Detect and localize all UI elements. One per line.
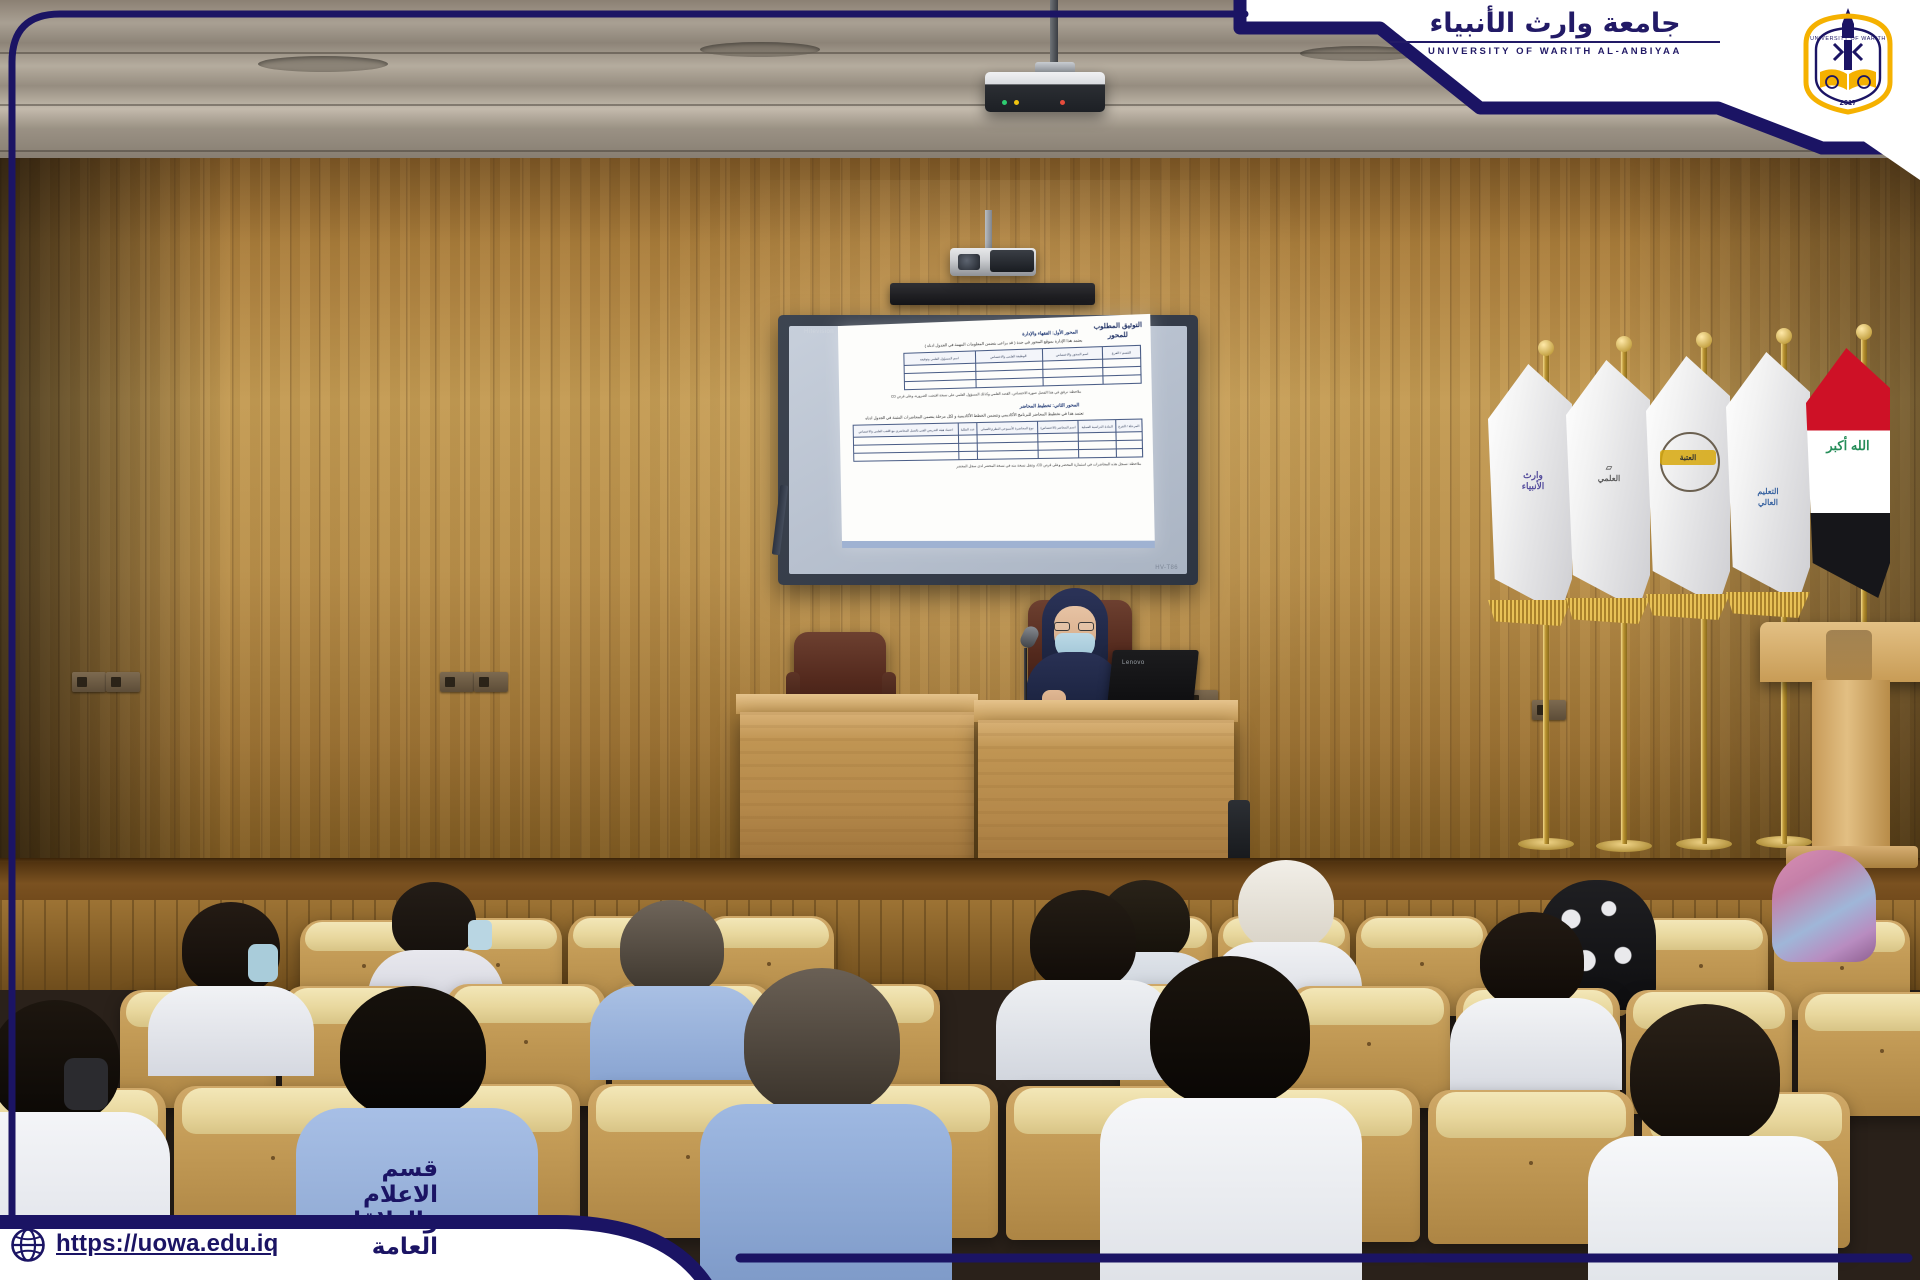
foreground-head-center-right [1150, 956, 1310, 1106]
university-name-arabic: جامعة وارث الأنبياء [1390, 8, 1720, 40]
emblem-year-text: 2017 [1840, 98, 1857, 107]
flag-finial [1776, 328, 1792, 344]
flag-ministry-emblem: ▱ﺍﻟﻌﻠﻤﻲ [1576, 462, 1642, 484]
foreground-shoulders-center [700, 1104, 952, 1280]
slide-t2-cell [1116, 449, 1142, 458]
face-mask [468, 920, 492, 950]
audience-shoulders [148, 986, 314, 1076]
slide-t1-cell [1043, 376, 1103, 386]
university-wordmark: جامعة وارث الأنبياء UNIVERSITY OF WARITH… [1390, 8, 1720, 70]
projector-body-dark [990, 250, 1034, 272]
ceiling-light [700, 42, 820, 57]
university-name-english: UNIVERSITY OF WARITH AL-ANBIYAA [1390, 41, 1720, 57]
audience-head-bald [620, 900, 724, 996]
slide-t2-cell [1038, 450, 1079, 459]
wall-outlet [440, 672, 474, 692]
wall-outlet [106, 672, 140, 692]
lecture-hall-photo: Hitevision HV-T86 التوثيق المطلوب للمحور… [0, 0, 1920, 1280]
flag-finial [1538, 340, 1554, 356]
university-emblem-icon: UNIVERSITY OF WARITH 2017 [1794, 4, 1902, 116]
wall-outlet [72, 672, 106, 692]
laptop-brand-label: Lenovo [1122, 660, 1145, 666]
wall-outlet [1532, 700, 1566, 720]
flag-higher-education-emblem: ﺍﻟﺘﻌﻠﻴﻢﺍﻟﻌﺎﻟﻲ [1734, 486, 1802, 508]
ceiling-seam [0, 104, 1920, 106]
wall-shadow-left [0, 158, 230, 870]
podium-column [1812, 680, 1890, 850]
slide-note-1: ملاحظة: ترفق في هذا الفصل صورة الاختصاص،… [850, 390, 1081, 401]
slide-t2-cell [1079, 449, 1116, 458]
department-name-arabic: قسم الاعلام والعلاقات العامة [330, 1156, 438, 1260]
foreground-shoulders-far-right [1588, 1136, 1838, 1280]
laptop-screen [1107, 650, 1199, 706]
slide-title: التوثيق المطلوب للمحور [1092, 320, 1145, 341]
audience-shoulders [996, 980, 1174, 1080]
foreground-head-bald-center [744, 968, 900, 1114]
slide-t2-cell [959, 451, 978, 459]
audience-head [1480, 912, 1584, 1008]
flag-finial [1696, 332, 1712, 348]
slide-t2-cell [977, 450, 1037, 459]
slide-t1-header-cell: القسم / الفرع [1102, 345, 1140, 359]
audience-shoulders-blue-shirt [590, 986, 762, 1080]
soundbar [890, 283, 1095, 305]
slide-t2-header-cell: المرحلة / الفرع [1116, 419, 1143, 432]
slide-table-1: القسم / الفرع اسم المحور والاختصاص الوظي… [903, 345, 1141, 390]
flag-seal-text: ﺍﻟﻌﺘﺒﺔ [1660, 450, 1716, 465]
audience-head [392, 882, 476, 958]
slide-t1-cell [1103, 375, 1141, 384]
audience-head [1030, 890, 1136, 990]
foreground-shoulders-right [1100, 1098, 1362, 1280]
flag-university-emblem: ﻭﺍﺭﺙﺍﻷﻧﺒﻴﺎﺀ [1498, 470, 1568, 492]
left-desk [740, 712, 974, 872]
slide-t2-header-cell: اسم المحاضر (الاختصاص) [1037, 420, 1079, 433]
projector-lens [958, 254, 980, 270]
ceiling-light [258, 56, 388, 72]
presenter-glasses [1054, 622, 1094, 631]
ceiling-seam [0, 150, 1920, 152]
flag-finial [1856, 324, 1872, 340]
ceiling-projector [985, 72, 1105, 112]
presenter-desk-top [974, 700, 1238, 722]
projector-led [1002, 100, 1007, 105]
slide-note-2: ملاحظة: تسجل هذه المحاضرات في استمارة ال… [851, 462, 1141, 471]
foreground-head-far-right [1630, 1004, 1780, 1144]
podium-university-seal [1826, 630, 1872, 682]
website-link[interactable]: https://uowa.edu.iq [56, 1230, 278, 1258]
whiteboard-model: HV-T86 [1155, 565, 1178, 571]
projector-led [1014, 100, 1019, 105]
slide-table-2: المرحلة / الفرع المادة الدراسية العملية … [853, 418, 1144, 461]
audience-shoulders [1450, 998, 1622, 1090]
slide-t2-header-cell: عدد الطلبة [958, 423, 977, 436]
slide-t1-cell [975, 378, 1042, 388]
foreground-head-center-left [340, 986, 486, 1118]
slide-t2-cell [959, 443, 978, 451]
audience-hijab-floral-pink [1772, 850, 1876, 962]
whiteboard-brand: Hitevision [804, 329, 834, 335]
slide-t1-cell [904, 380, 975, 390]
left-desk-top [736, 694, 978, 714]
projector-led [1060, 100, 1065, 105]
projected-slide: التوثيق المطلوب للمحور المحور الأول: الف… [838, 314, 1155, 548]
face-mask [248, 944, 278, 982]
slide-t2-header-cell: المادة الدراسية العملية [1078, 420, 1115, 433]
poster-canvas: Hitevision HV-T86 التوثيق المطلوب للمحور… [0, 0, 1920, 1280]
projector-mount-pole [1050, 0, 1058, 70]
audience-head-grey-hair [1238, 860, 1334, 950]
wall-outlet [474, 672, 508, 692]
flag-iraq-takbir: ﺍﻟﻠﻪ ﺃﻛﺒﺮ [1812, 440, 1884, 451]
short-throw-mount [985, 210, 992, 252]
globe-icon [10, 1227, 46, 1263]
face-mask-black [64, 1058, 108, 1110]
flag-finial [1616, 336, 1632, 352]
slide-t2-cell [854, 452, 959, 462]
slide-footer-bar [842, 541, 1155, 548]
slide-t2-header-cell: نوع المحاضرة الأسبوعي النظري/العملي [977, 421, 1038, 435]
